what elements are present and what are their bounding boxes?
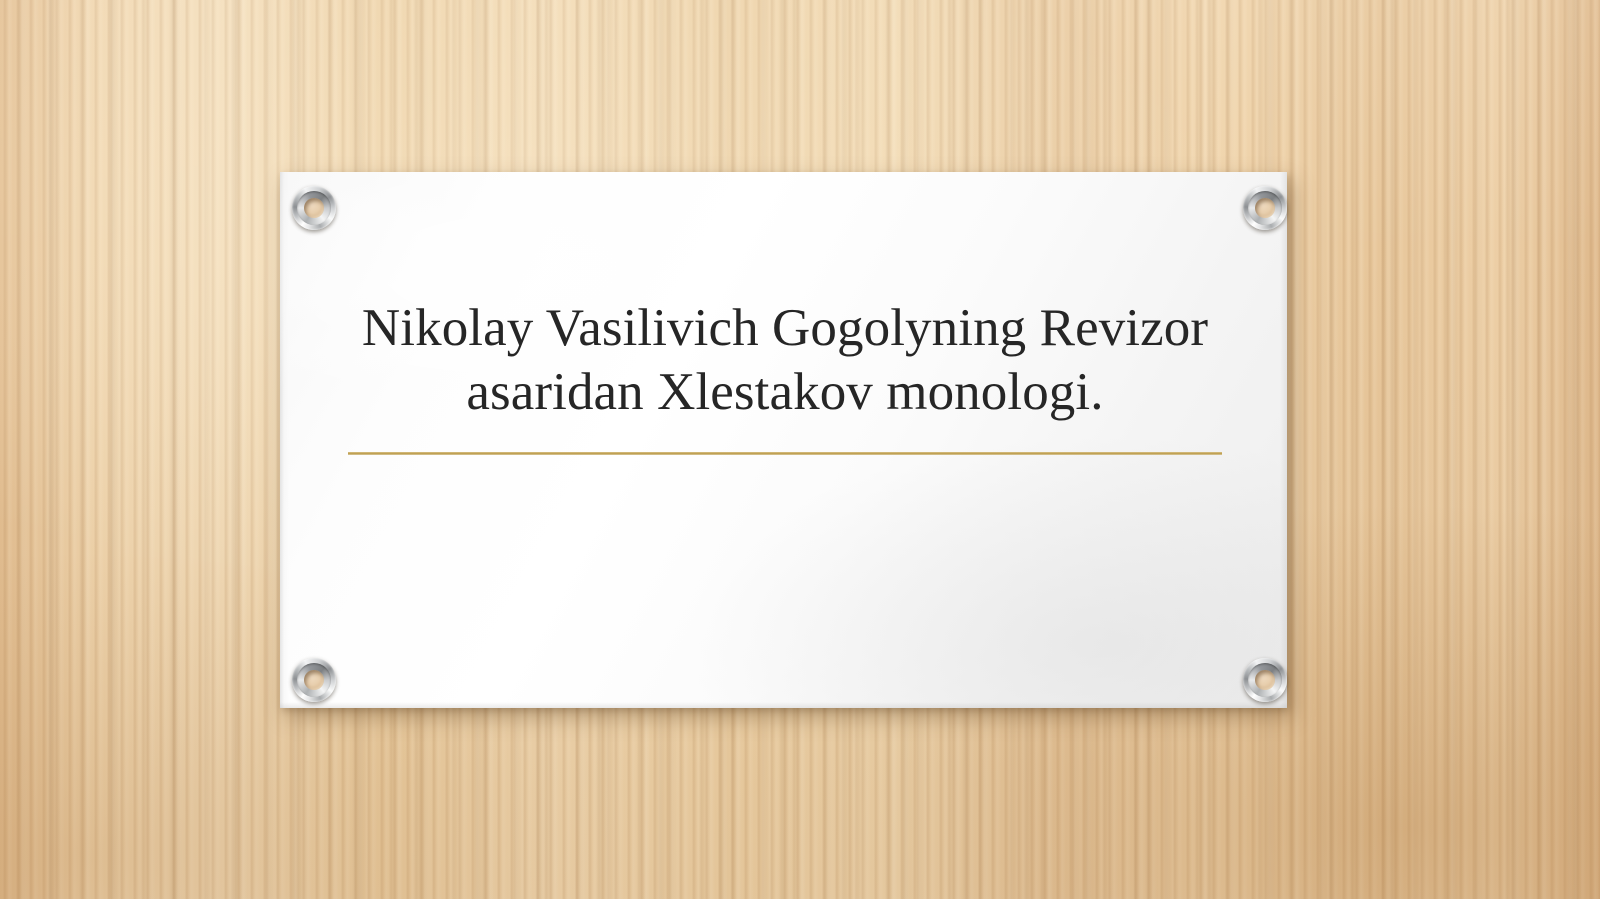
title-block: Nikolay Vasilivich Gogolyning Revizor as… — [332, 296, 1238, 424]
title-panel — [280, 172, 1287, 708]
grommet-bottom-left-icon — [292, 658, 336, 702]
panel-texture-overlay — [280, 172, 1287, 708]
presentation-slide: Nikolay Vasilivich Gogolyning Revizor as… — [0, 0, 1600, 899]
grommet-top-right-icon — [1243, 186, 1287, 230]
grommet-bottom-right-icon — [1243, 658, 1287, 702]
title-divider-rule — [348, 452, 1222, 455]
grommet-top-left-icon — [292, 186, 336, 230]
slide-title: Nikolay Vasilivich Gogolyning Revizor as… — [332, 296, 1238, 424]
